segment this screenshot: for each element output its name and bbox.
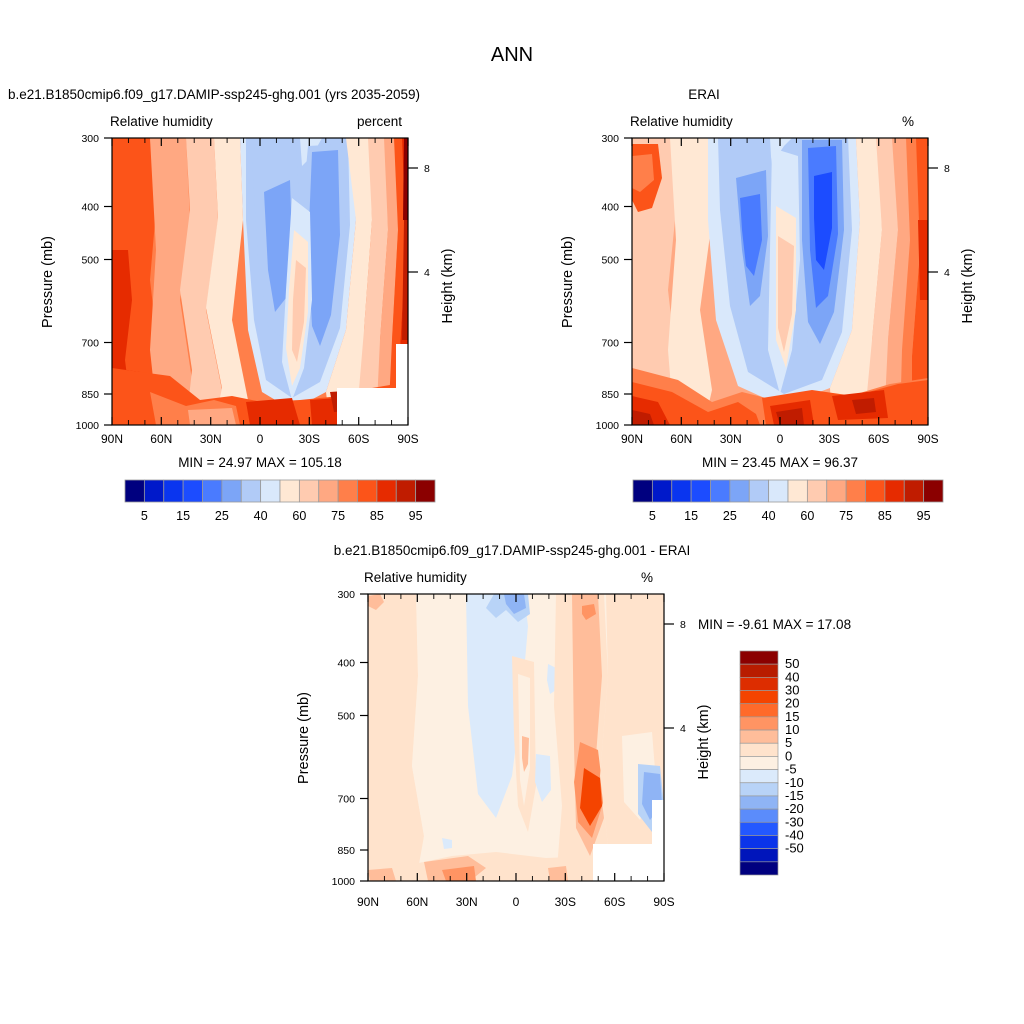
colorbar-swatch[interactable] — [924, 480, 943, 502]
x-tick-30n: 30N — [200, 432, 222, 446]
y-axis-label-obs: Pressure (mb) — [560, 236, 576, 328]
colorbar-swatch[interactable] — [144, 480, 163, 502]
colorbar-swatch[interactable] — [846, 480, 865, 502]
colorbar-swatch[interactable] — [740, 730, 778, 743]
colorbar-tick-label: 85 — [878, 509, 892, 523]
y-tick-300: 300 — [81, 133, 99, 145]
y-tick-700: 700 — [601, 338, 619, 350]
minmax-model: MIN = 24.97 MAX = 105.18 — [178, 455, 342, 470]
y-tick-1000: 1000 — [76, 420, 100, 432]
x-tick-60s: 60S — [348, 432, 369, 446]
y2-tick-8: 8 — [944, 163, 950, 175]
colorbar-swatch[interactable] — [633, 480, 652, 502]
colorbar-swatch[interactable] — [740, 743, 778, 756]
colorbar-tick-label: 5 — [649, 509, 656, 523]
variable-label-obs: Relative humidity — [630, 114, 733, 129]
y2-tick-4: 4 — [680, 723, 686, 735]
contour-field-model — [112, 138, 408, 425]
colorbar-swatch[interactable] — [740, 783, 778, 796]
colorbar-swatch[interactable] — [740, 651, 778, 664]
y-tick-500: 500 — [337, 711, 355, 723]
colorbar-swatch[interactable] — [730, 480, 749, 502]
colorbar-swatch[interactable] — [203, 480, 222, 502]
y-tick-300: 300 — [601, 133, 619, 145]
y-tick-700: 700 — [81, 338, 99, 350]
colorbar-swatch[interactable] — [740, 704, 778, 717]
x-tick-30n: 30N — [456, 895, 478, 909]
colorbar-swatch[interactable] — [769, 480, 788, 502]
x-tick-60n: 60N — [670, 432, 692, 446]
colorbar-obs-cells[interactable] — [633, 480, 943, 502]
colorbar-tick-label: 75 — [331, 509, 345, 523]
colorbar-swatch[interactable] — [788, 480, 807, 502]
colorbar-swatch[interactable] — [652, 480, 671, 502]
colorbar-swatch[interactable] — [885, 480, 904, 502]
colorbar-tick-label: 40 — [254, 509, 268, 523]
colorbar-difference[interactable]: 50403020151050-5-10-15-20-30-40-50 — [732, 645, 872, 895]
x-tick-90s: 90S — [917, 432, 938, 446]
contour-field-difference — [368, 594, 664, 881]
x-tick-0: 0 — [777, 432, 784, 446]
colorbar-swatch[interactable] — [740, 717, 778, 730]
colorbar-swatch[interactable] — [740, 835, 778, 848]
colorbar-swatch[interactable] — [183, 480, 202, 502]
x-tick-60n: 60N — [406, 895, 428, 909]
y2-tick-8: 8 — [424, 163, 430, 175]
x-tick-60n: 60N — [150, 432, 172, 446]
colorbar-swatch[interactable] — [691, 480, 710, 502]
y2-tick-8: 8 — [680, 619, 686, 631]
y2-axis-difference: 8 4 Height (km) — [664, 619, 712, 779]
y-tick-500: 500 — [81, 255, 99, 267]
colorbar-tick-label: 5 — [141, 509, 148, 523]
y-tick-400: 400 — [81, 202, 99, 214]
x-tick-60s: 60S — [868, 432, 889, 446]
colorbar-model-cells[interactable] — [125, 480, 435, 502]
contour-field-obs — [632, 138, 928, 425]
colorbar-swatch[interactable] — [222, 480, 241, 502]
colorbar-model-labels: 515254060758595 — [141, 509, 423, 523]
x-tick-0: 0 — [257, 432, 264, 446]
x-tick-90s: 90S — [653, 895, 674, 909]
y2-axis-label-model: Height (km) — [440, 249, 456, 324]
colorbar-swatch[interactable] — [241, 480, 260, 502]
y-tick-500: 500 — [601, 255, 619, 267]
y-axis-obs: 300 400 500 700 850 1000 Pressure (mb) — [560, 133, 632, 432]
colorbar-swatch[interactable] — [740, 691, 778, 704]
colorbar-tick-label: 95 — [409, 509, 423, 523]
y-axis-model: 300 400 500 700 850 1000 Pressure (mb) — [40, 133, 112, 432]
colorbar-swatch[interactable] — [319, 480, 338, 502]
colorbar-swatch[interactable] — [338, 480, 357, 502]
colorbar-tick-label: -50 — [785, 841, 804, 856]
colorbar-tick-label: 60 — [800, 509, 814, 523]
colorbar-tick-label: 25 — [215, 509, 229, 523]
units-label-difference: % — [641, 570, 653, 585]
colorbar-swatch[interactable] — [125, 480, 144, 502]
colorbar-swatch[interactable] — [749, 480, 768, 502]
page-title: ANN — [0, 44, 1024, 67]
colorbar-difference-labels: 50403020151050-5-10-15-20-30-40-50 — [785, 656, 804, 855]
colorbar-model[interactable]: 515254060758595 — [0, 475, 480, 530]
variable-label-difference: Relative humidity — [364, 570, 467, 585]
x-tick-30s: 30S — [555, 895, 576, 909]
units-label-obs: % — [902, 114, 914, 129]
y-tick-850: 850 — [81, 389, 99, 401]
colorbar-tick-label: 60 — [292, 509, 306, 523]
x-tick-60s: 60S — [604, 895, 625, 909]
colorbar-swatch[interactable] — [299, 480, 318, 502]
y-tick-850: 850 — [337, 845, 355, 857]
colorbar-swatch[interactable] — [740, 849, 778, 862]
colorbar-swatch[interactable] — [416, 480, 435, 502]
colorbar-swatch[interactable] — [164, 480, 183, 502]
y-axis-label-difference: Pressure (mb) — [296, 692, 312, 784]
colorbar-tick-label: 75 — [839, 509, 853, 523]
colorbar-swatch[interactable] — [740, 862, 778, 875]
colorbar-tick-label: 95 — [917, 509, 931, 523]
y2-axis-obs: 8 4 Height (km) — [928, 163, 976, 323]
colorbar-swatch[interactable] — [711, 480, 730, 502]
y2-axis-model: 8 4 Height (km) — [408, 163, 456, 323]
colorbar-swatch[interactable] — [866, 480, 885, 502]
x-tick-30n: 30N — [720, 432, 742, 446]
colorbar-swatch[interactable] — [807, 480, 826, 502]
x-tick-90s: 90S — [397, 432, 418, 446]
colorbar-swatch[interactable] — [740, 756, 778, 769]
y-tick-400: 400 — [337, 658, 355, 670]
y2-tick-4: 4 — [424, 267, 430, 279]
colorbar-obs-labels: 515254060758595 — [649, 509, 931, 523]
y2-axis-label-obs: Height (km) — [960, 249, 976, 324]
units-label-model: percent — [357, 114, 402, 129]
y-tick-700: 700 — [337, 794, 355, 806]
colorbar-swatch[interactable] — [377, 480, 396, 502]
variable-label-model: Relative humidity — [110, 114, 213, 129]
colorbar-tick-label: 85 — [370, 509, 384, 523]
colorbar-swatch[interactable] — [672, 480, 691, 502]
y-tick-1000: 1000 — [596, 420, 620, 432]
colorbar-tick-label: 15 — [176, 509, 190, 523]
colorbar-difference-cells[interactable] — [740, 651, 778, 875]
minmax-obs: MIN = 23.45 MAX = 96.37 — [702, 455, 858, 470]
y-tick-850: 850 — [601, 389, 619, 401]
y-axis-difference: 300 400 500 700 850 1000 Pressure (mb) — [296, 589, 368, 888]
x-tick-0: 0 — [513, 895, 520, 909]
colorbar-swatch[interactable] — [261, 480, 280, 502]
y-tick-400: 400 — [601, 202, 619, 214]
panel-obs: Relative humidity % — [512, 100, 1002, 540]
minmax-difference: MIN = -9.61 MAX = 17.08 — [698, 617, 851, 632]
colorbar-tick-label: 40 — [762, 509, 776, 523]
x-tick-30s: 30S — [819, 432, 840, 446]
colorbar-swatch[interactable] — [396, 480, 415, 502]
y-tick-1000: 1000 — [332, 876, 356, 888]
colorbar-swatch[interactable] — [280, 480, 299, 502]
x-tick-30s: 30S — [299, 432, 320, 446]
colorbar-tick-label: 25 — [723, 509, 737, 523]
colorbar-swatch[interactable] — [904, 480, 923, 502]
colorbar-tick-label: 15 — [684, 509, 698, 523]
colorbar-swatch[interactable] — [740, 664, 778, 677]
colorbar-swatch[interactable] — [358, 480, 377, 502]
y-axis-label-model: Pressure (mb) — [40, 236, 56, 328]
x-tick-90n: 90N — [101, 432, 123, 446]
colorbar-swatch[interactable] — [740, 796, 778, 809]
colorbar-swatch[interactable] — [740, 677, 778, 690]
colorbar-swatch[interactable] — [740, 822, 778, 835]
colorbar-swatch[interactable] — [740, 809, 778, 822]
x-tick-90n: 90N — [621, 432, 643, 446]
panel-model: Relative humidity percent — [0, 100, 480, 540]
colorbar-obs[interactable]: 515254060758595 — [512, 475, 1002, 530]
colorbar-swatch[interactable] — [740, 770, 778, 783]
colorbar-swatch[interactable] — [827, 480, 846, 502]
y2-axis-label-difference: Height (km) — [696, 705, 712, 780]
x-tick-90n: 90N — [357, 895, 379, 909]
y-tick-300: 300 — [337, 589, 355, 601]
y2-tick-4: 4 — [944, 267, 950, 279]
